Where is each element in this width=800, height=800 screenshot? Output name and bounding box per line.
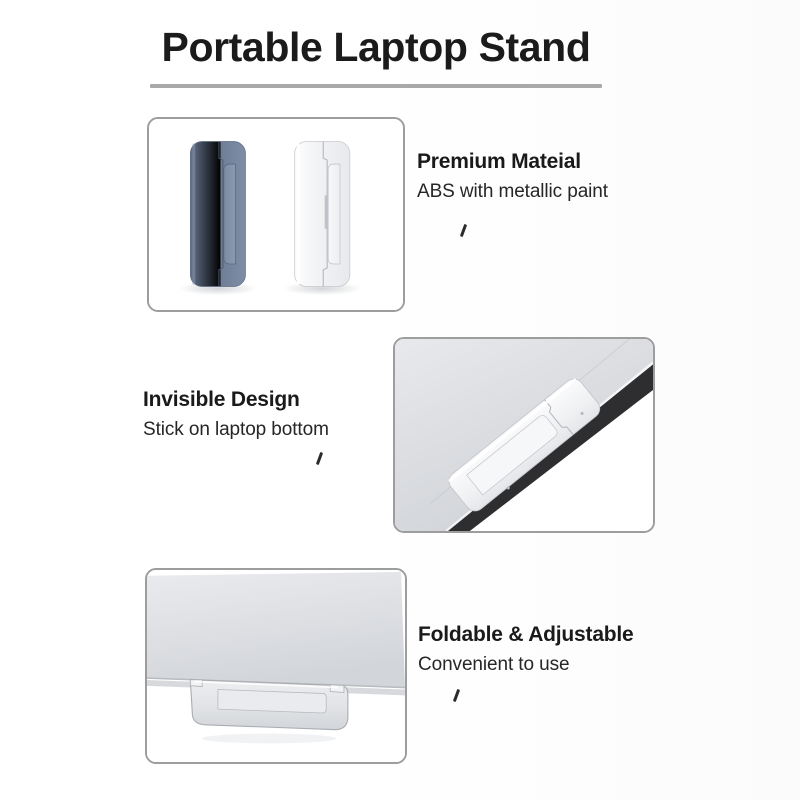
photo-panel-invisible-design [393, 337, 655, 533]
stand-deployed-image [147, 570, 405, 762]
title-divider [150, 84, 602, 88]
feature-heading-foldable-adjustable: Foldable & Adjustable [418, 623, 634, 647]
feature-subtitle-premium-material: ABS with metallic paint [417, 181, 608, 203]
title-block: Portable Laptop Stand [150, 24, 602, 88]
photo-panel-premium-material [147, 117, 405, 312]
feature-subtitle-invisible-design: Stick on laptop bottom [143, 419, 329, 441]
photo-panel-foldable-adjustable [145, 568, 407, 764]
feature-text-premium-material: Premium Mateial ABS with metallic paint [417, 150, 608, 203]
page-title: Portable Laptop Stand [150, 24, 602, 71]
feature-heading-invisible-design: Invisible Design [143, 388, 329, 412]
feature-text-foldable-adjustable: Foldable & Adjustable Convenient to use [418, 623, 634, 676]
product-infographic: Portable Laptop Stand [0, 0, 800, 800]
feature-subtitle-foldable-adjustable: Convenient to use [418, 654, 634, 676]
comma-tick-mark-premium [460, 224, 467, 237]
comma-tick-mark-invisible [316, 452, 323, 465]
two-folded-stands-image [149, 119, 403, 310]
feature-heading-premium-material: Premium Mateial [417, 150, 608, 174]
stand-on-laptop-bottom-image [395, 339, 653, 531]
feature-text-invisible-design: Invisible Design Stick on laptop bottom [143, 388, 329, 441]
comma-tick-mark-foldable [453, 689, 460, 702]
